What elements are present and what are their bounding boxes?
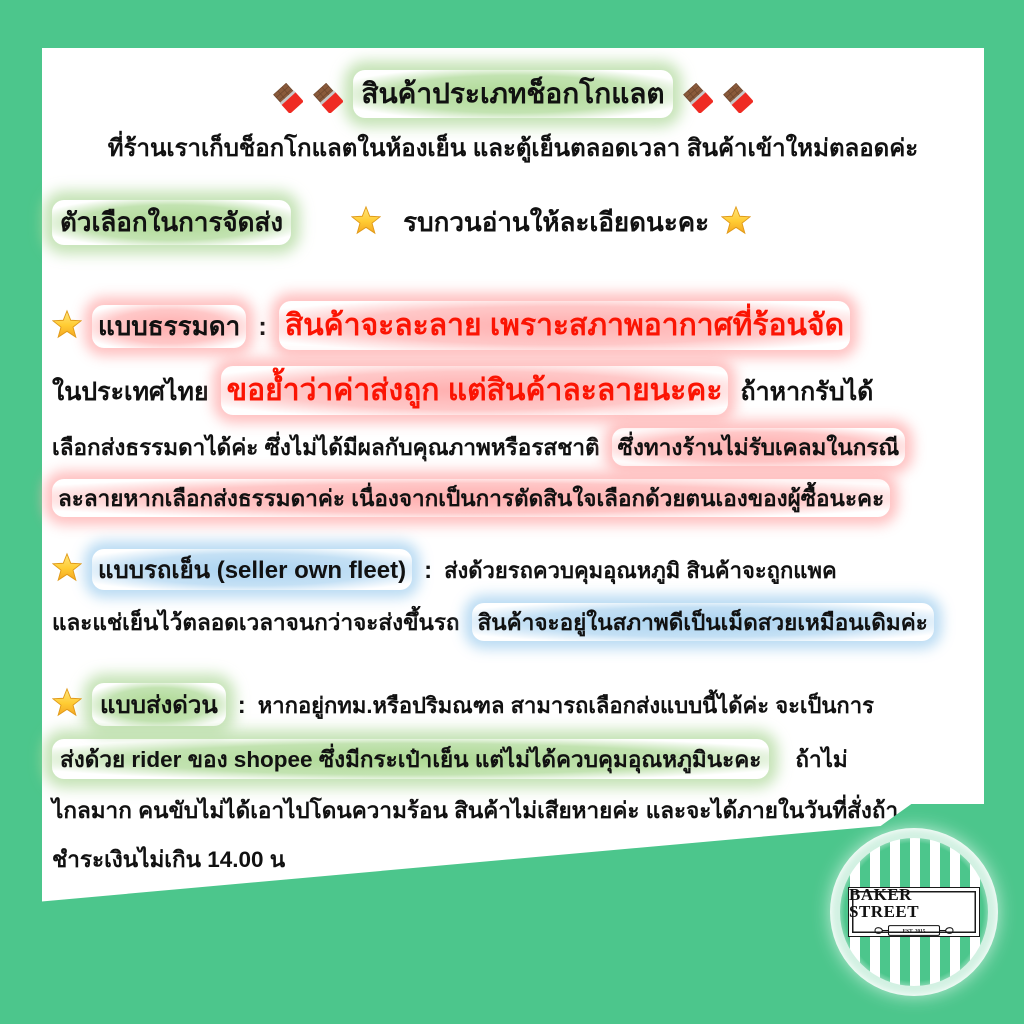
star-icon [721, 205, 751, 235]
body-claim-note: ละลายหากเลือกส่งธรรมดาค่ะ เนื่องจากเป็นก… [52, 479, 890, 517]
chocolate-bar-icon [313, 83, 343, 113]
section-body-row: ละลายหากเลือกส่งธรรมดาค่ะ เนื่องจากเป็นก… [52, 479, 978, 517]
star-icon [52, 552, 82, 582]
poster-canvas: สินค้าประเภทช็อกโกแลต [0, 0, 1024, 1024]
section-header-row: แบบรถเย็น (seller own fleet) : ส่งด้วยรถ… [52, 548, 978, 590]
baker-street-logo: BAKER STREET EST. 2015 [840, 838, 988, 986]
page-title: สินค้าประเภทช็อกโกแลต [353, 70, 672, 118]
star-icon [52, 309, 82, 339]
body-cutoff-time: ชำระเงินไม่เกิน 14.00 น [52, 841, 285, 877]
section-warn-text: สินค้าจะละลาย เพราะสภาพอากาศที่ร้อนจัด [279, 301, 850, 350]
page-subtitle: ที่ร้านเราเก็บช็อกโกแลตในห้องเย็น และตู้… [42, 128, 984, 167]
section-header-row: แบบส่งด่วน : หากอยู่กทม.หรือปริมณฑล สามา… [52, 683, 978, 726]
logo-plate: BAKER STREET EST. 2015 [848, 887, 980, 937]
chocolate-bar-icon [723, 83, 753, 113]
section-colon: : [424, 557, 432, 585]
body-text: ถ้าไม่ [795, 741, 847, 777]
rolling-pin-icon: EST. 2015 [866, 923, 962, 938]
section-body-row: ส่งด้วย rider ของ shopee ซึ่งมีกระเป๋าเย… [52, 739, 978, 779]
section-body-row: และแช่เย็นไว้ตลอดเวลาจนกว่าจะส่งขึ้นรถ ส… [52, 603, 978, 641]
body-warn-text: ขอย้ำว่าค่าส่งถูก แต่สินค้าละลายนะคะ [221, 366, 729, 415]
logo-brand-name: BAKER STREET [849, 886, 979, 920]
section-body-row: ไกลมาก คนขับไม่ได้เอาไปโดนความร้อน สินค้… [52, 792, 978, 828]
section-body-row: เลือกส่งธรรมดาได้ค่ะ ซึ่งไม่ได้มีผลกับคุ… [52, 428, 978, 466]
chocolate-bar-icon [683, 83, 713, 113]
section-normal-shipping: แบบธรรมดา : สินค้าจะละลาย เพราะสภาพอากาศ… [52, 301, 978, 530]
body-rider-note: ส่งด้วย rider ของ shopee ซึ่งมีกระเป๋าเย… [52, 739, 769, 779]
shipping-options-label: ตัวเลือกในการจัดส่ง [52, 200, 291, 245]
section-header-row: แบบธรรมดา : สินค้าจะละลาย เพราะสภาพอากาศ… [52, 301, 978, 350]
logo-est-text: EST. 2015 [903, 928, 926, 934]
star-icon [52, 687, 82, 717]
body-text: ไกลมาก คนขับไม่ได้เอาไปโดนความร้อน สินค้… [52, 792, 898, 828]
star-icon [351, 205, 381, 235]
content-area: สินค้าประเภทช็อกโกแลต [42, 48, 984, 932]
section-body-row: ในประเทศไทย ขอย้ำว่าค่าส่งถูก แต่สินค้าล… [52, 366, 978, 415]
body-text: และแช่เย็นไว้ตลอดเวลาจนกว่าจะส่งขึ้นรถ [52, 604, 460, 640]
section-cold-truck: แบบรถเย็น (seller own fleet) : ส่งด้วยรถ… [52, 548, 978, 654]
body-text: หากอยู่กทม.หรือปริมณฑล สามารถเลือกส่งแบบ… [258, 688, 874, 723]
chocolate-bar-icon [273, 83, 303, 113]
body-text: ส่งด้วยรถควบคุมอุณหภูมิ สินค้าจะถูกแพค [444, 553, 837, 588]
page-title-row: สินค้าประเภทช็อกโกแลต [42, 70, 984, 118]
section-colon: : [258, 311, 267, 342]
body-claim-note: ซึ่งทางร้านไม่รับเคลมในกรณี [612, 428, 906, 466]
body-text: เลือกส่งธรรมดาได้ค่ะ ซึ่งไม่ได้มีผลกับคุ… [52, 429, 600, 465]
shipping-options-heading: ตัวเลือกในการจัดส่ง [52, 200, 978, 245]
body-text: ในประเทศไทย [52, 372, 209, 412]
body-text: ถ้าหากรับได้ [740, 372, 873, 412]
shipping-read-note: รบกวนอ่านให้ละเอียดนะคะ [403, 202, 709, 243]
section-label-normal: แบบธรรมดา [92, 305, 246, 348]
body-quality-note: สินค้าจะอยู่ในสภาพดีเป็นเม็ดสวยเหมือนเดิ… [472, 603, 934, 641]
section-colon: : [238, 692, 246, 720]
section-label-express: แบบส่งด่วน [92, 683, 226, 726]
section-label-cold-truck: แบบรถเย็น (seller own fleet) [92, 549, 412, 590]
